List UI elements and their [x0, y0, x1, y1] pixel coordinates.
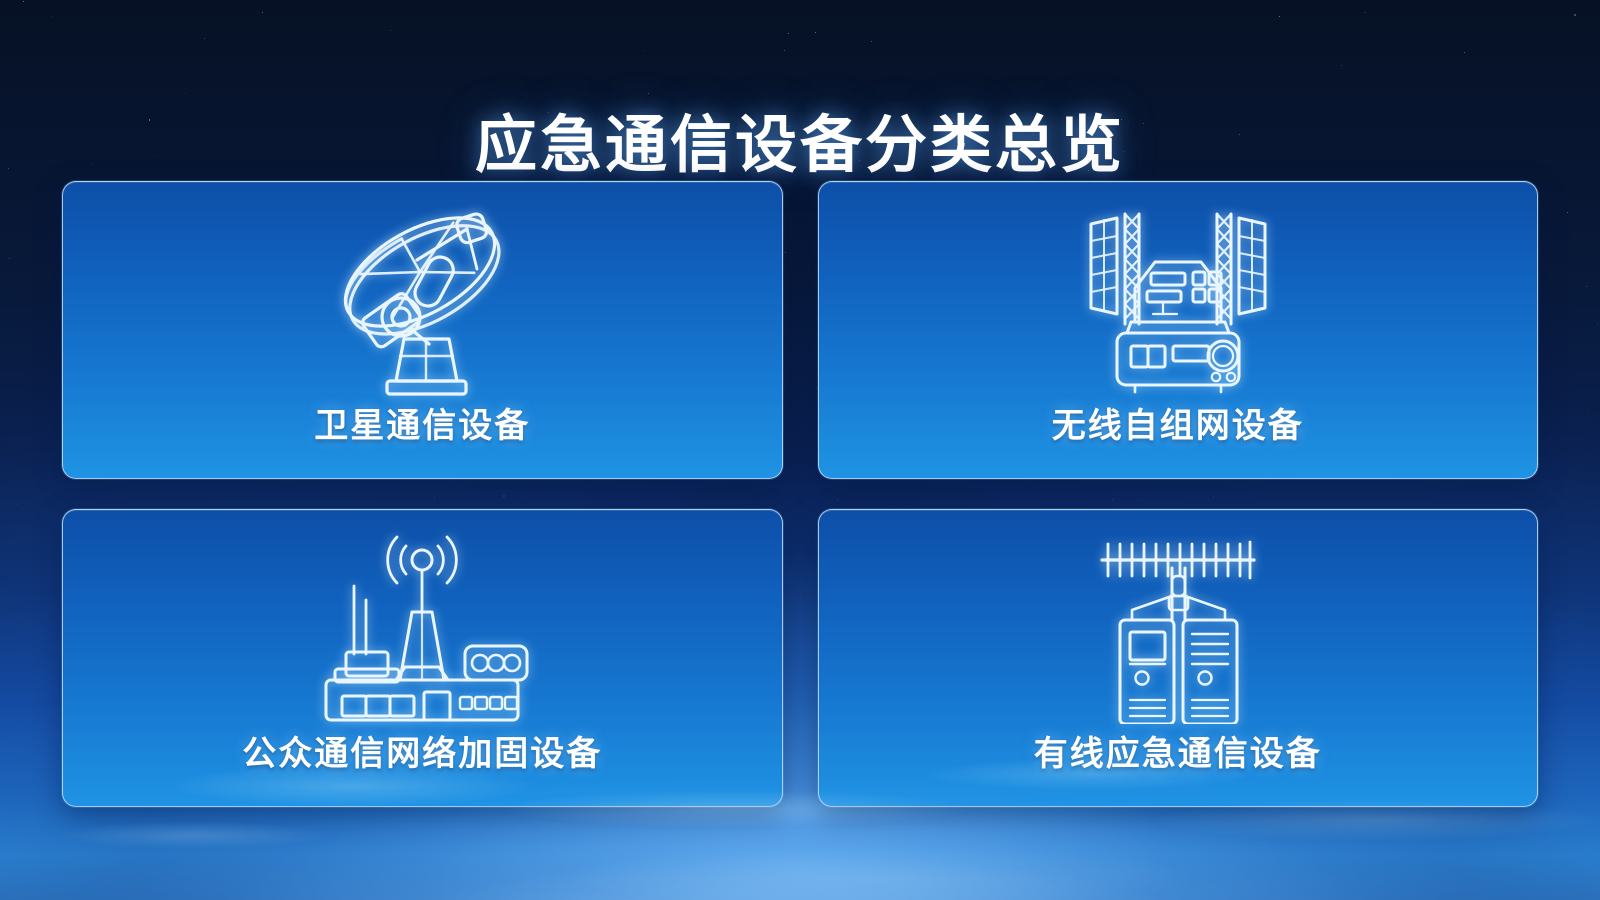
card-wired-emergency-communication[interactable]: 有线应急通信设备: [818, 509, 1539, 807]
card-label-satellite-communication: 卫星通信设备: [314, 398, 530, 447]
wired-cabinet-antenna-icon: [1078, 524, 1278, 724]
equipment-card-grid: 卫星通信设备: [62, 181, 1538, 807]
card-label-wireless-mesh-network: 无线自组网设备: [1052, 398, 1304, 447]
card-label-public-network-hardening: 公众通信网络加固设备: [242, 726, 602, 775]
card-label-wired-emergency-communication: 有线应急通信设备: [1034, 726, 1322, 775]
page-title: 应急通信设备分类总览: [0, 94, 1600, 184]
slide-root: 应急通信设备分类总览: [0, 0, 1600, 900]
satellite-dish-icon: [317, 196, 527, 396]
card-wireless-mesh-network[interactable]: 无线自组网设备: [818, 181, 1539, 479]
card-satellite-communication[interactable]: 卫星通信设备: [62, 181, 783, 479]
card-public-network-hardening[interactable]: 公众通信网络加固设备: [62, 509, 783, 807]
mesh-network-station-icon: [1073, 196, 1283, 396]
cell-tower-icon: [302, 524, 542, 724]
